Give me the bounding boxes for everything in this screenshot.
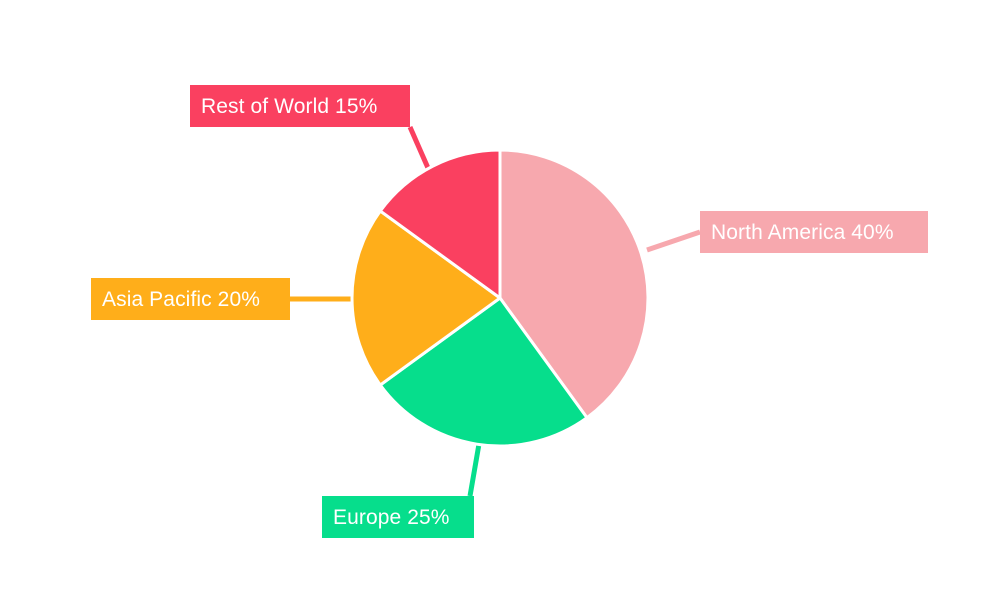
slice-label-rest-of-world[interactable]: Rest of World 15% — [190, 85, 410, 127]
leader-line-north-america — [647, 232, 700, 250]
slice-label-north-america[interactable]: North America 40% — [700, 211, 928, 253]
leader-line-europe — [470, 444, 479, 496]
slice-label-asia-pacific[interactable]: Asia Pacific 20% — [91, 278, 290, 320]
slice-label-europe[interactable]: Europe 25% — [322, 496, 474, 538]
pie-slice-group — [352, 150, 648, 446]
leader-line-rest-of-world — [410, 127, 428, 168]
pie-chart-figure: North America 40%Europe 25%Asia Pacific … — [0, 0, 1000, 600]
